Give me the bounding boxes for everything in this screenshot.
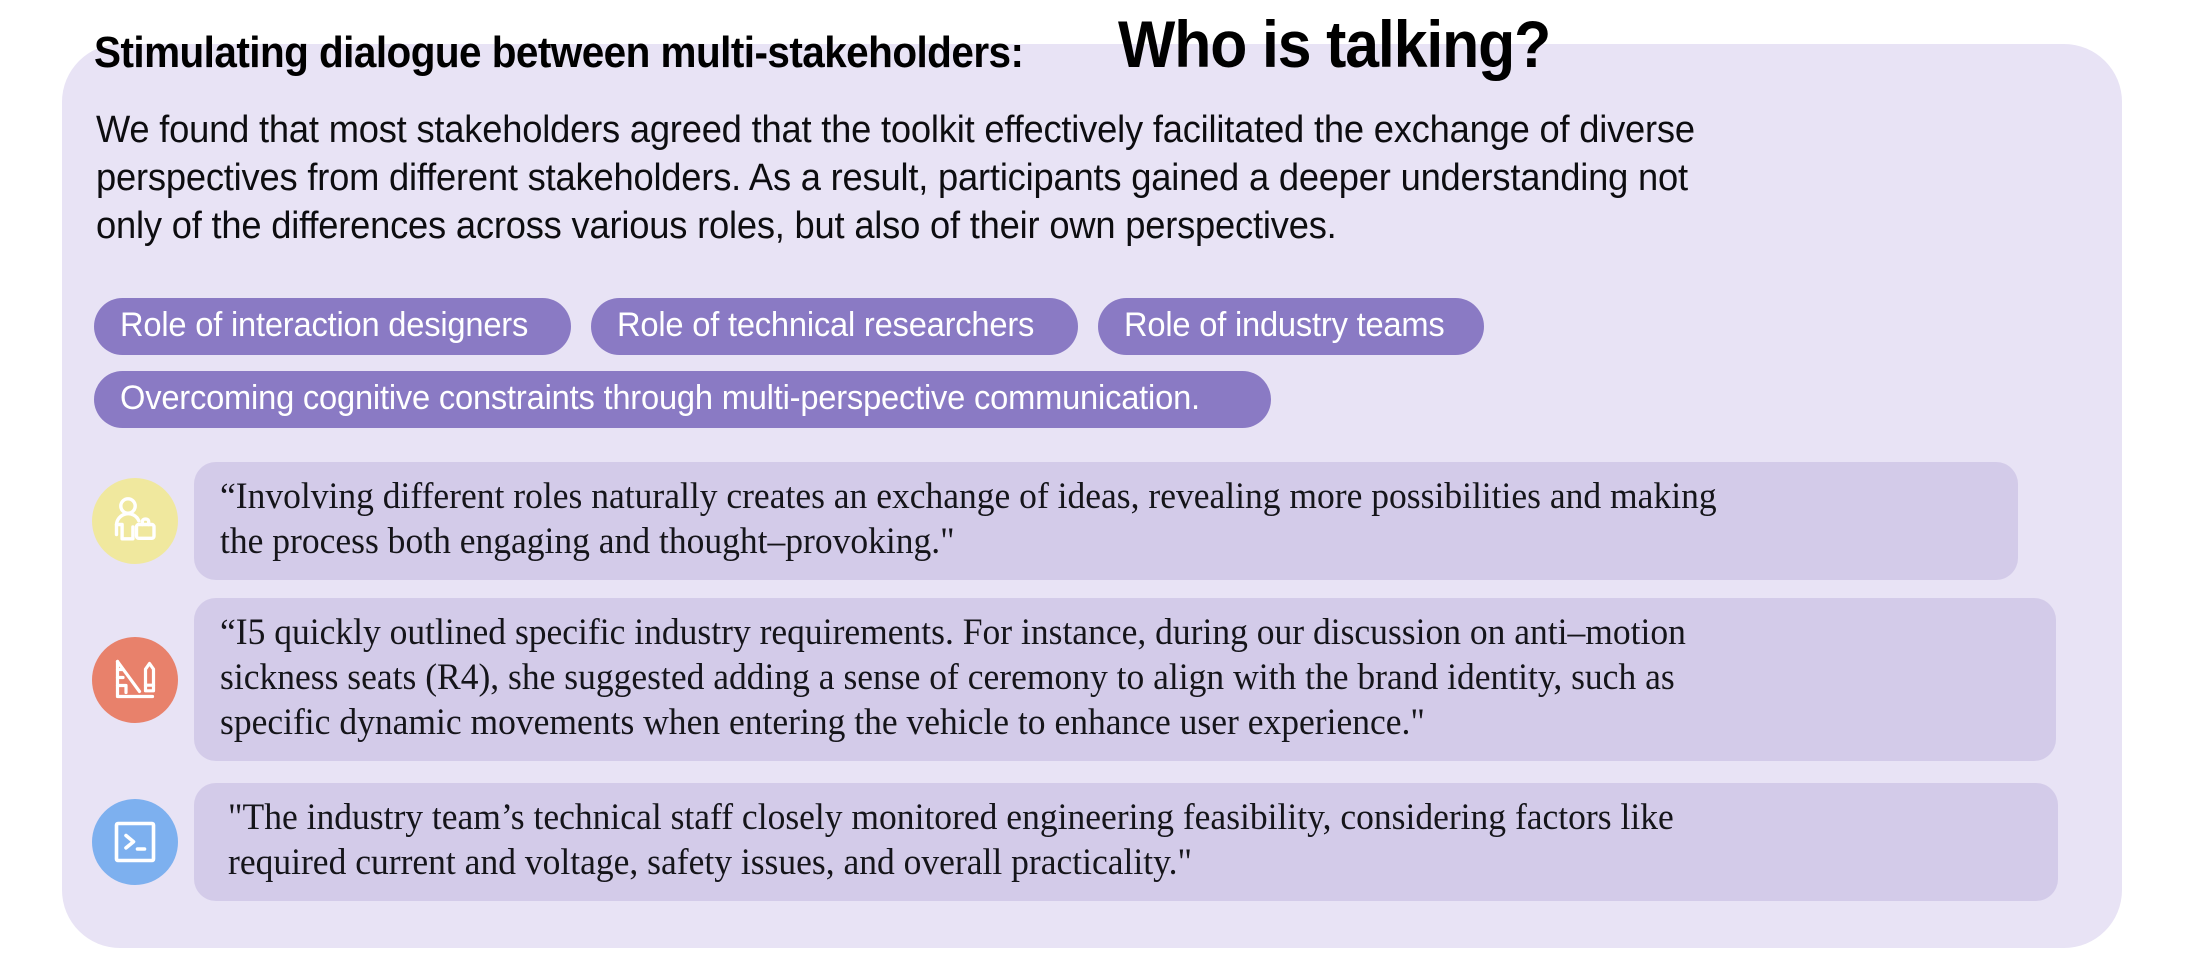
- quote-item-3: "The industry team’s technical staff clo…: [92, 783, 2092, 901]
- page-title: Stimulating dialogue between multi-stake…: [94, 6, 1588, 82]
- tag-role-industry-teams[interactable]: Role of industry teams: [1098, 298, 1484, 355]
- quote-text-2: “I5 quickly outlined specific industry r…: [194, 598, 2056, 761]
- ruler-pen-icon: [92, 637, 178, 723]
- quote-line: specific dynamic movements when entering…: [220, 700, 1956, 745]
- quote-line: the process both engaging and thought–pr…: [220, 519, 1919, 564]
- tag-list: Role of interaction designers Role of te…: [94, 298, 2074, 444]
- page-title-main: Who is talking?: [1118, 6, 1550, 82]
- quote-text-3: "The industry team’s technical staff clo…: [194, 783, 2058, 901]
- tag-label: Overcoming cognitive constraints through…: [120, 377, 1200, 419]
- tag-overcoming-cognitive-constraints[interactable]: Overcoming cognitive constraints through…: [94, 371, 1271, 428]
- body-line-3: only of the differences across various r…: [96, 202, 2035, 250]
- tag-label: Role of technical researchers: [617, 304, 1034, 346]
- quote-list: “Involving different roles naturally cre…: [92, 462, 2092, 919]
- quote-item-1: “Involving different roles naturally cre…: [92, 462, 2092, 580]
- slide-root: Stimulating dialogue between multi-stake…: [0, 0, 2190, 978]
- tag-row-2: Overcoming cognitive constraints through…: [94, 371, 2074, 428]
- body-line-1: We found that most stakeholders agreed t…: [96, 106, 2035, 154]
- quote-line: required current and voltage, safety iss…: [228, 840, 1958, 885]
- quote-line: “Involving different roles naturally cre…: [220, 474, 1919, 519]
- tag-label: Role of interaction designers: [120, 304, 528, 346]
- tag-label: Role of industry teams: [1124, 304, 1445, 346]
- quote-line: sickness seats (R4), she suggested addin…: [220, 655, 1956, 700]
- tag-row-1: Role of interaction designers Role of te…: [94, 298, 2074, 355]
- page-title-lead: Stimulating dialogue between multi-stake…: [94, 28, 1023, 78]
- quote-line: "The industry team’s technical staff clo…: [228, 795, 1958, 840]
- terminal-icon: [92, 799, 178, 885]
- quote-text-1: “Involving different roles naturally cre…: [194, 462, 2018, 580]
- body-paragraph: We found that most stakeholders agreed t…: [96, 106, 2126, 250]
- body-line-2: perspectives from different stakeholders…: [96, 154, 2035, 202]
- quote-line: “I5 quickly outlined specific industry r…: [220, 610, 1956, 655]
- tag-role-interaction-designers[interactable]: Role of interaction designers: [94, 298, 571, 355]
- tag-role-technical-researchers[interactable]: Role of technical researchers: [591, 298, 1078, 355]
- person-briefcase-icon: [92, 478, 178, 564]
- quote-item-2: “I5 quickly outlined specific industry r…: [92, 598, 2092, 761]
